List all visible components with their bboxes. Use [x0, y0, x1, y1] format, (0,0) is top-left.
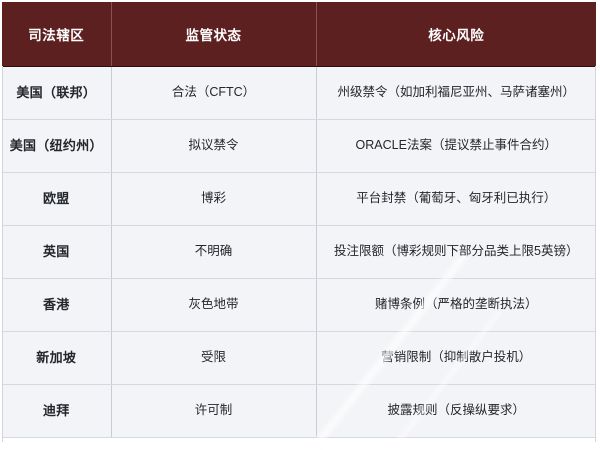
cell-risk: 披露规则（反操纵要求）: [316, 384, 596, 437]
column-header-risk: 核心风险: [316, 2, 596, 66]
table-header-row: 司法辖区 监管状态 核心风险: [2, 2, 596, 66]
table-row: 新加坡 受限 营销限制（抑制散户投机）: [2, 331, 596, 384]
table-row: 英国 不明确 投注限额（博彩规则下部分品类上限5英镑）: [2, 225, 596, 278]
cell-risk: 平台封禁（葡萄牙、匈牙利已执行）: [316, 172, 596, 225]
cell-jurisdiction: 美国（纽约州）: [2, 119, 111, 172]
cell-jurisdiction: 迪拜: [2, 384, 111, 437]
cell-risk: 州级禁令（如加利福尼亚州、马萨诸塞州）: [316, 66, 596, 119]
cell-jurisdiction: 香港: [2, 278, 111, 331]
cell-risk: ORACLE法案（提议禁止事件合约）: [316, 119, 596, 172]
cell-risk: 营销限制（抑制散户投机）: [316, 331, 596, 384]
jurisdiction-regulation-table: 司法辖区 监管状态 核心风险 美国（联邦） 合法（CFTC） 州级禁令（如加利福…: [2, 2, 596, 438]
cell-jurisdiction: 欧盟: [2, 172, 111, 225]
cell-jurisdiction: 英国: [2, 225, 111, 278]
regulation-table-screenshot: 司法辖区 监管状态 核心风险 美国（联邦） 合法（CFTC） 州级禁令（如加利福…: [0, 0, 600, 450]
cell-status: 博彩: [111, 172, 316, 225]
table-container: 司法辖区 监管状态 核心风险 美国（联邦） 合法（CFTC） 州级禁令（如加利福…: [2, 2, 596, 442]
cell-status: 合法（CFTC）: [111, 66, 316, 119]
cell-status: 受限: [111, 331, 316, 384]
column-header-jurisdiction: 司法辖区: [2, 2, 111, 66]
cell-risk: 投注限额（博彩规则下部分品类上限5英镑）: [316, 225, 596, 278]
cell-status: 不明确: [111, 225, 316, 278]
table-row: 美国（纽约州） 拟议禁令 ORACLE法案（提议禁止事件合约）: [2, 119, 596, 172]
cell-status: 灰色地带: [111, 278, 316, 331]
cell-jurisdiction: 美国（联邦）: [2, 66, 111, 119]
column-header-status: 监管状态: [111, 2, 316, 66]
cell-status: 拟议禁令: [111, 119, 316, 172]
cell-risk: 赌博条例（严格的垄断执法）: [316, 278, 596, 331]
cell-status: 许可制: [111, 384, 316, 437]
table-body: 美国（联邦） 合法（CFTC） 州级禁令（如加利福尼亚州、马萨诸塞州） 美国（纽…: [2, 66, 596, 437]
table-header: 司法辖区 监管状态 核心风险: [2, 2, 596, 66]
table-row: 香港 灰色地带 赌博条例（严格的垄断执法）: [2, 278, 596, 331]
table-row: 欧盟 博彩 平台封禁（葡萄牙、匈牙利已执行）: [2, 172, 596, 225]
table-row: 迪拜 许可制 披露规则（反操纵要求）: [2, 384, 596, 437]
table-row: 美国（联邦） 合法（CFTC） 州级禁令（如加利福尼亚州、马萨诸塞州）: [2, 66, 596, 119]
cell-jurisdiction: 新加坡: [2, 331, 111, 384]
